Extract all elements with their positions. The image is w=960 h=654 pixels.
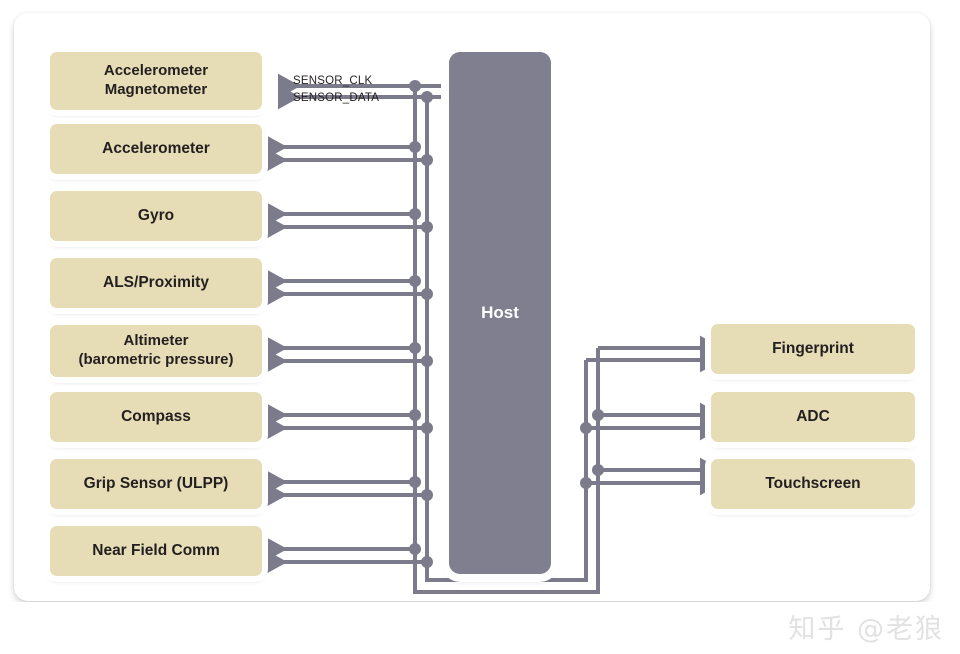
block-label: Gyro	[138, 206, 174, 225]
block-label: ALS/Proximity	[103, 273, 209, 292]
block-grip-sensor[interactable]: Grip Sensor (ULPP)	[50, 459, 262, 509]
block-label: Fingerprint	[772, 339, 854, 358]
block-label-line-2: (barometric pressure)	[78, 351, 233, 368]
signal-label-sensor-clk: SENSOR_CLK	[293, 75, 372, 87]
block-label: Altimeter (barometric pressure)	[78, 332, 233, 370]
block-near-field-comm[interactable]: Near Field Comm	[50, 526, 262, 576]
block-label: Near Field Comm	[92, 541, 219, 560]
diagram-canvas: SENSOR_CLK SENSOR_DATA Accelerometer Mag…	[0, 0, 960, 654]
block-accelerometer[interactable]: Accelerometer	[50, 124, 262, 174]
block-altimeter[interactable]: Altimeter (barometric pressure)	[50, 325, 262, 377]
block-label: Accelerometer	[102, 139, 210, 158]
block-label: Compass	[121, 407, 191, 426]
block-label: Touchscreen	[765, 474, 860, 493]
host-label: Host	[481, 303, 519, 323]
watermark: 知乎 @老狼	[788, 607, 944, 646]
block-label-line-1: Accelerometer	[104, 62, 208, 79]
block-gyro[interactable]: Gyro	[50, 191, 262, 241]
block-host[interactable]: Host	[449, 52, 551, 574]
block-label-line-1: Altimeter	[123, 332, 188, 349]
block-fingerprint[interactable]: Fingerprint	[711, 324, 915, 374]
block-label: ADC	[796, 407, 830, 426]
block-als-proximity[interactable]: ALS/Proximity	[50, 258, 262, 308]
block-label: Grip Sensor (ULPP)	[84, 474, 229, 493]
block-label-line-2: Magnetometer	[105, 81, 208, 98]
block-compass[interactable]: Compass	[50, 392, 262, 442]
block-adc[interactable]: ADC	[711, 392, 915, 442]
block-accelerometer-magnetometer[interactable]: Accelerometer Magnetometer	[50, 52, 262, 110]
signal-label-sensor-data: SENSOR_DATA	[293, 92, 379, 104]
block-touchscreen[interactable]: Touchscreen	[711, 459, 915, 509]
block-label: Accelerometer Magnetometer	[104, 62, 208, 100]
